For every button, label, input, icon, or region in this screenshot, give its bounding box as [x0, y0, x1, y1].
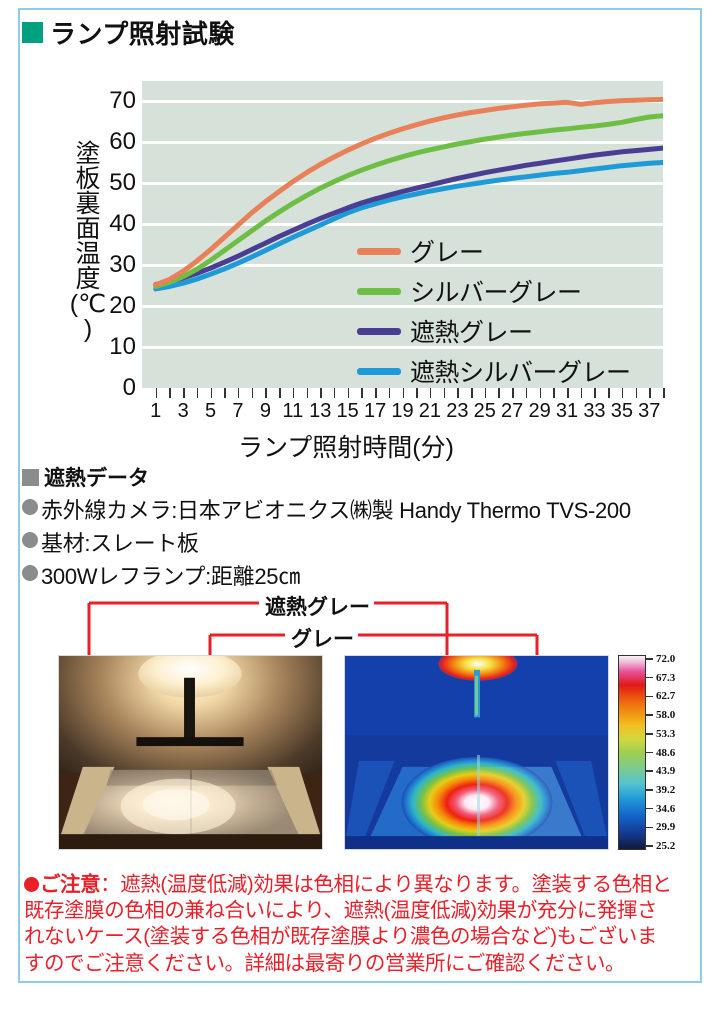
chart-x-tick [307, 388, 309, 398]
colorbar-tick-value: 48.6 [656, 747, 675, 759]
chart-x-tick [581, 388, 583, 398]
chart-x-tick [636, 388, 638, 398]
legend-item: 遮熱グレー [357, 311, 631, 351]
chart-x-tick-label: 9 [260, 400, 271, 423]
chart-y-tick-label: 40 [109, 210, 136, 238]
chart-x-tick-label: 15 [337, 400, 359, 423]
legend-label: 遮熱グレー [410, 313, 533, 349]
colorbar-tick-mark [646, 845, 653, 847]
notice-separator: ： [100, 873, 120, 896]
data-list-item: 赤外線カメラ:日本アビオニクス㈱製 Handy Thermo TVS-200 [22, 493, 672, 525]
legend-swatch-icon [357, 248, 401, 255]
chart-x-tick [211, 388, 213, 398]
chart-x-tick [183, 388, 185, 398]
legend-swatch-icon [357, 288, 401, 295]
chart-x-tick-label: 21 [419, 400, 441, 423]
page-title: ランプ照射試験 [22, 14, 235, 51]
chart-x-tick [361, 388, 363, 398]
chart-x-tick-label: 1 [150, 400, 161, 423]
notice-body: 遮熱(温度低減)効果は色相により異なります。塗装する色相と既存塗膜の色相の兼ね合… [24, 873, 672, 975]
chart-y-tick-label: 10 [109, 333, 136, 361]
chart-x-tick-label: 27 [501, 400, 523, 423]
chart-x-tick [293, 388, 295, 398]
chart-x-tick [334, 388, 336, 398]
chart-x-tick [526, 388, 528, 398]
colorbar-tick-value: 62.7 [656, 690, 675, 702]
colorbar-tick-mark [646, 658, 653, 660]
chart-x-tick [389, 388, 391, 398]
colorbar-tick-mark [646, 827, 653, 829]
chart-x-tick [348, 388, 350, 398]
colorbar-tick-mark [646, 696, 653, 698]
chart-x-tick-label: 35 [611, 400, 633, 423]
chart-x-tick [553, 388, 555, 398]
chart-x-tick-label: 17 [364, 400, 386, 423]
colorbar-tick-row: 67.3 [646, 672, 675, 684]
gray-dot-bullet-icon [22, 499, 38, 515]
chart-x-tick [649, 388, 651, 398]
colorbar-tick-row: 62.7 [646, 690, 675, 702]
colorbar-tick-value: 58.0 [656, 709, 675, 721]
chart-x-tick [197, 388, 199, 398]
colorbar-tick-row: 48.6 [646, 747, 675, 759]
chart-x-tick [252, 388, 254, 398]
chart-x-axis-label: ランプ照射時間(分) [22, 428, 670, 464]
chart-x-tick [279, 388, 281, 398]
chart-x-tick-label: 31 [556, 400, 578, 423]
colorbar-tick-value: 34.6 [656, 803, 675, 815]
legend-label: グレー [410, 233, 484, 269]
notice-prefix: ご注意 [40, 873, 100, 896]
colorbar-tick-mark [646, 714, 653, 716]
gray-dot-bullet-icon [22, 532, 38, 548]
legend-label: シルバーグレー [410, 273, 582, 309]
chart-x-tick [403, 388, 405, 398]
chart-x-tick-labels: 135791113151719212325272931333537 [142, 400, 663, 426]
chart-x-tick [471, 388, 473, 398]
chart-x-tick [485, 388, 487, 398]
colorbar-tick-value: 67.3 [656, 672, 675, 684]
chart-x-tick [498, 388, 500, 398]
data-list-item-text: 300Wレフランプ:距離25㎝ [41, 559, 300, 591]
colorbar-tick-value: 43.9 [656, 765, 675, 777]
chart-x-tick-label: 25 [474, 400, 496, 423]
data-list-item: 300Wレフランプ:距離25㎝ [22, 559, 672, 591]
colorbar-tick-value: 72.0 [656, 653, 675, 665]
colorbar-tick-value: 29.9 [656, 821, 675, 833]
chart-y-tick-labels: 010203040506070 [96, 81, 136, 388]
chart-x-tick [567, 388, 569, 398]
colorbar-tick-mark [646, 770, 653, 772]
colorbar-tick-row: 25.2 [646, 840, 675, 852]
chart-x-tick [512, 388, 514, 398]
red-dot-bullet-icon [24, 877, 39, 892]
chart-legend: グレーシルバーグレー遮熱グレー遮熱シルバーグレー [357, 231, 631, 391]
chart-x-tick-label: 19 [391, 400, 413, 423]
thermal-camera-image [344, 655, 609, 850]
chart-x-tick-label: 29 [528, 400, 550, 423]
chart-x-tick [457, 388, 459, 398]
chart-x-tick-label: 5 [205, 400, 216, 423]
colorbar-tick-mark [646, 677, 653, 679]
legend-swatch-icon [357, 368, 401, 375]
chart-x-tick-label: 11 [282, 400, 303, 423]
chart-plot-area: グレーシルバーグレー遮熱グレー遮熱シルバーグレー [142, 81, 663, 388]
legend-item: 遮熱シルバーグレー [357, 351, 631, 391]
thermal-colorbar [618, 655, 646, 850]
colorbar-tick-row: 39.2 [646, 784, 675, 796]
chart-x-tick-label: 37 [638, 400, 660, 423]
chart-y-tick-label: 20 [109, 292, 136, 320]
chart-x-tick [594, 388, 596, 398]
colorbar-tick-value: 25.2 [656, 840, 675, 852]
teal-square-bullet-icon [22, 22, 43, 43]
data-section-heading-text: 遮熱データ [44, 462, 149, 492]
chart-y-tick-label: 60 [109, 128, 136, 156]
legend-item: グレー [357, 231, 631, 271]
notice-block: ご注意：遮熱(温度低減)効果は色相により異なります。塗装する色相と既存塗膜の色相… [24, 872, 674, 977]
thermal-colorbar-ticks: 72.067.362.758.053.348.643.939.234.629.9… [646, 655, 706, 850]
chart-x-tick-label: 33 [583, 400, 605, 423]
chart-x-tick-label: 23 [446, 400, 468, 423]
colorbar-tick-mark [646, 808, 653, 810]
chart-x-tick [265, 388, 267, 398]
legend-label: 遮熱シルバーグレー [410, 353, 631, 389]
chart-x-tick [375, 388, 377, 398]
page-root: ランプ照射試験 塗 板 裏 面 温 度 (℃ ) 010203040506070… [0, 0, 720, 1011]
callout-label-shanetsu-gray: 遮熱グレー [261, 591, 374, 621]
colorbar-tick-row: 34.6 [646, 803, 675, 815]
chart-x-tick [663, 388, 665, 398]
colorbar-tick-value: 39.2 [656, 784, 675, 796]
chart-x-tick [238, 388, 240, 398]
colorbar-tick-mark [646, 789, 653, 791]
page-title-text: ランプ照射試験 [50, 14, 235, 51]
chart-x-tick [416, 388, 418, 398]
colorbar-tick-value: 53.3 [656, 728, 675, 740]
colorbar-tick-mark [646, 733, 653, 735]
colorbar-tick-mark [646, 752, 653, 754]
chart-y-tick-label: 30 [109, 251, 136, 279]
colorbar-tick-row: 43.9 [646, 765, 675, 777]
gray-dot-bullet-icon [22, 565, 38, 581]
legend-swatch-icon [357, 328, 401, 335]
data-list-item: 基材:スレート板 [22, 526, 672, 558]
chart-x-tick [320, 388, 322, 398]
chart-y-tick-label: 70 [109, 87, 136, 115]
lamp-irradiation-chart: 塗 板 裏 面 温 度 (℃ ) 010203040506070 グレーシルバー… [22, 56, 670, 456]
data-list-item-text: 基材:スレート板 [41, 526, 199, 558]
chart-x-tick [622, 388, 624, 398]
colorbar-tick-row: 29.9 [646, 821, 675, 833]
chart-y-tick-label: 0 [123, 374, 136, 402]
colorbar-tick-row: 53.3 [646, 728, 675, 740]
chart-x-tick [169, 388, 171, 398]
chart-x-tick-label: 3 [178, 400, 189, 423]
colorbar-tick-row: 58.0 [646, 709, 675, 721]
callout-label-gray: グレー [287, 623, 358, 653]
data-list-item-text: 赤外線カメラ:日本アビオニクス㈱製 Handy Thermo TVS-200 [41, 493, 631, 525]
chart-x-tick [608, 388, 610, 398]
chart-x-tick [444, 388, 446, 398]
lamp-setup-photo [58, 655, 323, 850]
gray-square-bullet-icon [22, 469, 39, 486]
chart-x-tick-label: 7 [232, 400, 243, 423]
data-section-heading: 遮熱データ [22, 462, 672, 492]
chart-y-tick-label: 50 [109, 169, 136, 197]
legend-item: シルバーグレー [357, 271, 631, 311]
chart-x-tick [540, 388, 542, 398]
chart-x-tick [224, 388, 226, 398]
colorbar-tick-row: 72.0 [646, 653, 675, 665]
chart-x-tick-label: 13 [309, 400, 331, 423]
thermal-comparison-zone: 遮熱グレー グレー [22, 588, 674, 868]
chart-x-tick [156, 388, 158, 398]
shanetsu-data-section: 遮熱データ 赤外線カメラ:日本アビオニクス㈱製 Handy Thermo TVS… [22, 462, 672, 591]
chart-x-tick [430, 388, 432, 398]
